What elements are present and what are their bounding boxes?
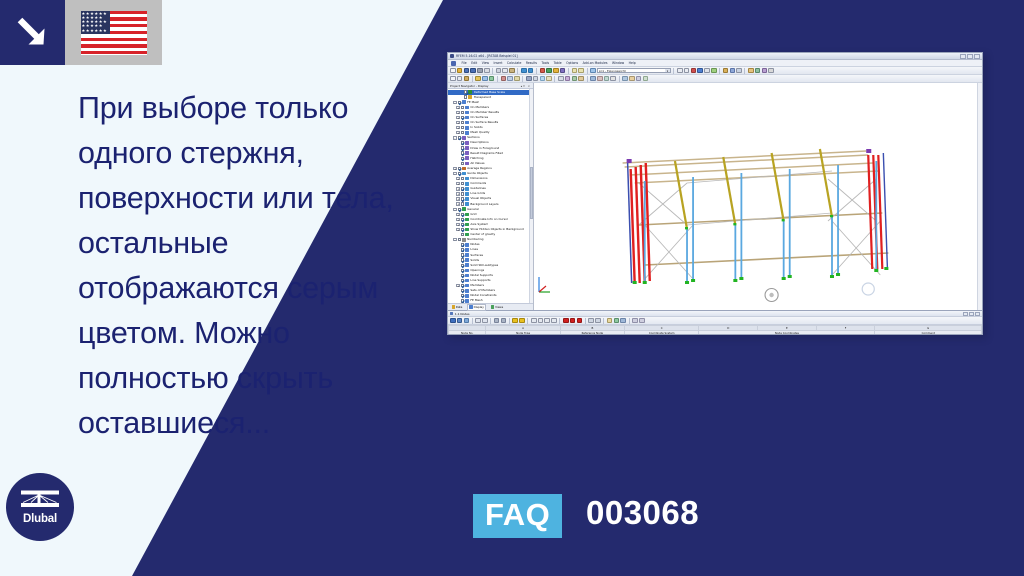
tree-node-icon xyxy=(465,177,469,181)
checkbox-icon[interactable] xyxy=(461,106,464,109)
tree-node-icon xyxy=(465,151,469,155)
paste-icon[interactable] xyxy=(494,318,500,324)
window-title: RFEM 5.16.02 x64 - [RSTAB Beispiel 01] xyxy=(456,54,518,58)
checkbox-icon[interactable] xyxy=(461,248,464,251)
slide-root: ★★★★★★★★★★★★★★★★★★★★★★★★★★★★★★★★★★★★★★★★… xyxy=(0,0,1024,576)
line-icon[interactable] xyxy=(457,76,463,82)
menu-item-view[interactable]: View xyxy=(482,61,489,65)
sort-icon[interactable] xyxy=(519,318,525,324)
navigator-title: Project Navigator - Display xyxy=(450,84,489,88)
view-xz-icon[interactable] xyxy=(755,68,761,74)
tree-node-icon xyxy=(462,207,466,211)
menu-item-addon-modules[interactable]: Add-on Modules xyxy=(583,61,608,65)
faq-number: 003068 xyxy=(586,494,699,532)
rotate-view-icon[interactable] xyxy=(610,76,616,82)
export-icon[interactable] xyxy=(464,318,470,324)
tree-node-icon xyxy=(465,121,469,125)
tree-node-icon xyxy=(462,136,466,140)
tree-node-icon xyxy=(465,299,469,303)
tree-spacer-icon xyxy=(456,289,459,292)
navigator-tab-display[interactable]: Display xyxy=(467,304,487,311)
checkbox-icon[interactable] xyxy=(461,146,464,149)
toolbar-separator xyxy=(568,68,569,74)
first-icon[interactable] xyxy=(588,318,594,324)
zoom-in-icon[interactable] xyxy=(691,68,697,74)
loadcase-combo[interactable]: LC1 - Eigengewicht ▾ xyxy=(597,68,671,74)
calc-icon[interactable] xyxy=(531,318,537,324)
expand-icon[interactable]: + xyxy=(456,284,459,287)
table-minimize-button[interactable] xyxy=(963,312,968,316)
arrow-down-right-icon xyxy=(16,16,49,49)
last-icon[interactable] xyxy=(614,318,620,324)
tree-node-icon xyxy=(465,131,469,135)
navigator-tab-views[interactable]: Views xyxy=(488,304,505,311)
data-tab-icon xyxy=(452,305,455,308)
tree-node-icon xyxy=(465,228,469,232)
flag-badge: ★★★★★★★★★★★★★★★★★★★★★★★★★★★★★★★★★★★★★★★★… xyxy=(65,0,162,65)
checkbox-icon[interactable] xyxy=(461,258,464,261)
menu-item-tools[interactable]: Tools xyxy=(542,61,550,65)
tree-node-icon xyxy=(465,294,469,298)
menubar[interactable]: File Edit View Insert Calculate Results … xyxy=(448,60,982,67)
navigator-tab-label: Data xyxy=(456,305,463,309)
select-icon[interactable] xyxy=(450,76,456,82)
menu-item-window[interactable]: Window xyxy=(612,61,624,65)
circle-icon[interactable] xyxy=(482,76,488,82)
tree-spacer-icon xyxy=(456,299,459,302)
osnap-icon[interactable] xyxy=(578,76,584,82)
mesh-icon[interactable] xyxy=(546,76,552,82)
expand-icon[interactable]: + xyxy=(453,167,456,170)
checkbox-icon[interactable] xyxy=(461,182,464,185)
tree-node-icon xyxy=(465,111,469,115)
view-iso-icon[interactable] xyxy=(736,68,742,74)
window-titlebar[interactable]: RFEM 5.16.02 x64 - [RSTAB Beispiel 01] xyxy=(448,53,982,60)
column-header[interactable]: Coordinate System xyxy=(624,331,699,336)
member-icon[interactable] xyxy=(501,76,507,82)
toolbar-separator xyxy=(587,68,588,74)
toolbar-separator xyxy=(554,76,555,82)
table-panel[interactable]: 1.1 Nodes xyxy=(448,310,982,335)
checkbox-icon[interactable] xyxy=(461,197,464,200)
viewport-marker-icon xyxy=(862,283,874,295)
tree-node-icon xyxy=(465,202,469,206)
table-header-top: Node No.Node TypeReference NodeCoordinat… xyxy=(449,331,982,336)
checkbox-icon[interactable] xyxy=(461,269,464,272)
checkbox-icon[interactable] xyxy=(461,253,464,256)
copy-icon[interactable] xyxy=(482,318,488,324)
tree-spacer-icon xyxy=(456,233,459,236)
project-navigator[interactable]: Project Navigator - Display ▴▾ × Deforme… xyxy=(448,83,534,310)
checkbox-icon[interactable] xyxy=(461,187,464,190)
checkbox-icon[interactable] xyxy=(461,223,464,226)
expand-icon[interactable]: + xyxy=(456,228,459,231)
expand-icon[interactable]: + xyxy=(456,177,459,180)
checkbox-icon[interactable] xyxy=(458,136,461,139)
navigator-item-label: FE Mesh xyxy=(470,298,482,303)
toolbar-separator xyxy=(585,318,586,324)
paste-icon[interactable] xyxy=(509,68,515,74)
checkbox-icon[interactable] xyxy=(461,289,464,292)
tree-spacer-icon xyxy=(456,151,459,154)
checkbox-icon[interactable] xyxy=(458,238,461,241)
refresh-icon[interactable] xyxy=(643,76,649,82)
menu-item-calculate[interactable]: Calculate xyxy=(507,61,521,65)
select-icon[interactable] xyxy=(620,318,626,324)
collapse-icon[interactable]: - xyxy=(453,101,456,104)
column-header[interactable]: Node Type xyxy=(486,331,561,336)
checkbox-icon[interactable] xyxy=(461,213,464,216)
expand-icon[interactable]: + xyxy=(456,182,459,185)
tree-spacer-icon xyxy=(456,264,459,267)
collapse-icon[interactable]: - xyxy=(453,238,456,241)
table-icon xyxy=(450,312,453,315)
dimension-icon[interactable] xyxy=(558,76,564,82)
checkbox-icon[interactable] xyxy=(464,95,467,98)
navigator-tab-data[interactable]: Data xyxy=(449,304,465,311)
dlubal-truss-icon xyxy=(20,490,60,512)
load-case-icon[interactable] xyxy=(572,68,578,74)
tree-node-icon xyxy=(465,106,469,110)
delete-row-icon[interactable] xyxy=(563,318,569,324)
checkbox-icon[interactable] xyxy=(461,233,464,236)
checkbox-icon[interactable] xyxy=(461,294,464,297)
print-preview-icon[interactable] xyxy=(484,68,490,74)
tree-node-icon xyxy=(465,182,469,186)
views-tab-icon xyxy=(491,305,494,308)
view-xy-icon[interactable] xyxy=(748,68,754,74)
cut-icon[interactable] xyxy=(496,68,502,74)
checkbox-icon[interactable] xyxy=(461,228,464,231)
menu-item-results[interactable]: Results xyxy=(526,61,537,65)
viewport-scrollbar[interactable] xyxy=(977,83,982,310)
checkbox-icon[interactable] xyxy=(461,157,464,160)
solid-icon2[interactable] xyxy=(514,76,520,82)
checkbox-icon[interactable] xyxy=(461,116,464,119)
copy-icon[interactable] xyxy=(502,68,508,74)
checkbox-icon[interactable] xyxy=(458,101,461,104)
save-icon[interactable] xyxy=(464,68,470,74)
expand-icon[interactable]: + xyxy=(456,111,459,114)
window-menu-icon[interactable] xyxy=(451,61,456,66)
secondary-toolbar[interactable] xyxy=(448,75,982,83)
render-icon[interactable] xyxy=(540,68,546,74)
measure-icon[interactable] xyxy=(622,76,628,82)
checkbox-icon[interactable] xyxy=(461,192,464,195)
checkbox-icon[interactable] xyxy=(461,243,464,246)
display-tab-icon xyxy=(469,305,472,308)
main-toolbar[interactable]: LC1 - Eigengewicht ▾ xyxy=(448,67,982,75)
layer-icon[interactable] xyxy=(590,76,596,82)
toolbar-separator xyxy=(587,76,588,82)
arc-icon[interactable] xyxy=(475,76,481,82)
tree-spacer-icon xyxy=(456,248,459,251)
snap-icon[interactable] xyxy=(565,76,571,82)
toolbar-separator xyxy=(603,318,604,324)
checkbox-icon[interactable] xyxy=(461,202,464,205)
checkbox-icon[interactable] xyxy=(461,218,464,221)
new-row-icon[interactable] xyxy=(450,318,456,324)
arrow-badge xyxy=(0,0,65,65)
print-table-icon[interactable] xyxy=(457,318,463,324)
navigator-tab-label: Display xyxy=(474,305,484,309)
calculate-icon[interactable] xyxy=(578,68,584,74)
navigator-tree[interactable]: Deformed Base ScaleTransparent-FE Mesh+O… xyxy=(448,89,533,303)
menu-item-options[interactable]: Options xyxy=(566,61,578,65)
loadcase-label-icon[interactable] xyxy=(590,68,596,74)
table-window-controls[interactable] xyxy=(963,312,980,316)
model-viewport[interactable] xyxy=(534,83,982,310)
checkbox-icon[interactable] xyxy=(464,90,467,93)
navigator-tab-label: Views xyxy=(495,305,503,309)
tree-node-icon xyxy=(465,187,469,191)
tree-node-icon xyxy=(465,279,469,283)
zoom-window-icon[interactable] xyxy=(704,68,710,74)
table-head: ABCDEFGNode No.Node TypeReference NodeCo… xyxy=(449,326,982,336)
tree-spacer-icon xyxy=(456,279,459,282)
toolbar-separator xyxy=(673,68,674,74)
tree-node-icon xyxy=(465,269,469,273)
checkbox-icon[interactable] xyxy=(461,274,464,277)
collapse-icon[interactable]: - xyxy=(453,208,456,211)
checkbox-icon[interactable] xyxy=(461,141,464,144)
colors-icon[interactable] xyxy=(544,318,550,324)
workarea: Project Navigator - Display ▴▾ × Deforme… xyxy=(448,83,982,310)
new-file-icon[interactable] xyxy=(450,68,456,74)
toolbar-separator xyxy=(629,318,630,324)
tree-node-icon xyxy=(465,243,469,247)
open-folder-icon[interactable] xyxy=(457,68,463,74)
collapse-icon[interactable]: - xyxy=(453,172,456,175)
rfem-application-window[interactable]: RFEM 5.16.02 x64 - [RSTAB Beispiel 01] F… xyxy=(447,52,983,335)
expand-icon[interactable]: + xyxy=(456,106,459,109)
window-controls[interactable] xyxy=(960,54,980,59)
load-icon[interactable] xyxy=(540,76,546,82)
support-icon[interactable] xyxy=(526,76,532,82)
tree-node-icon xyxy=(465,218,469,222)
grid-icon[interactable] xyxy=(572,76,578,82)
checkbox-icon[interactable] xyxy=(461,126,464,129)
tree-spacer-icon xyxy=(456,146,459,149)
expand-icon[interactable]: + xyxy=(456,223,459,226)
fit-all-icon[interactable] xyxy=(723,68,729,74)
tree-spacer-icon xyxy=(456,274,459,277)
section-cut-icon[interactable] xyxy=(604,76,610,82)
find-icon[interactable] xyxy=(501,318,507,324)
save-all-icon[interactable] xyxy=(470,68,476,74)
checkbox-icon[interactable] xyxy=(458,208,461,211)
checkbox-icon[interactable] xyxy=(461,121,464,124)
expand-icon[interactable]: + xyxy=(456,202,459,205)
visibility-icon[interactable] xyxy=(597,76,603,82)
colors-icon[interactable] xyxy=(560,68,566,74)
dlubal-wordmark: Dlubal xyxy=(23,513,57,525)
checkbox-icon[interactable] xyxy=(461,131,464,134)
help-icon[interactable] xyxy=(639,318,645,324)
zoom-out-icon[interactable] xyxy=(697,68,703,74)
navigator-item[interactable]: FE Mesh xyxy=(448,298,533,303)
expand-icon[interactable]: + xyxy=(456,213,459,216)
tree-node-icon xyxy=(465,116,469,120)
checkbox-icon[interactable] xyxy=(461,284,464,287)
tree-spacer-icon xyxy=(456,269,459,272)
toolbar-separator xyxy=(719,68,720,74)
axis-triad-icon xyxy=(537,274,553,294)
settings-icon[interactable] xyxy=(538,318,544,324)
loadcase-combo-value: LC1 - Eigengewicht xyxy=(599,69,626,73)
tree-spacer-icon xyxy=(456,294,459,297)
tree-node-icon xyxy=(465,284,469,288)
tree-node-icon xyxy=(462,167,466,171)
checkbox-icon[interactable] xyxy=(461,177,464,180)
checkbox-icon[interactable] xyxy=(458,172,461,175)
checkbox-icon[interactable] xyxy=(461,151,464,154)
tree-node-icon xyxy=(465,248,469,252)
page-title: При выборе только одного стержня, поверх… xyxy=(78,86,430,446)
tree-spacer-icon xyxy=(460,95,463,98)
column-header[interactable]: Node No. xyxy=(449,331,486,336)
tree-node-icon xyxy=(465,197,469,201)
clear-row-icon[interactable] xyxy=(577,318,583,324)
tree-node-icon xyxy=(465,141,469,145)
tree-node-icon xyxy=(468,95,472,99)
menu-item-table[interactable]: Table xyxy=(554,61,562,65)
collapse-icon[interactable]: - xyxy=(453,136,456,139)
table-close-button[interactable] xyxy=(975,312,980,316)
next-icon[interactable] xyxy=(607,318,613,324)
tree-node-icon xyxy=(462,238,466,242)
steel-hall-frame-model[interactable] xyxy=(534,83,982,310)
menu-item-insert[interactable]: Insert xyxy=(494,61,503,65)
expand-icon[interactable]: + xyxy=(456,192,459,195)
checkbox-icon[interactable] xyxy=(461,111,464,114)
checkbox-icon[interactable] xyxy=(461,264,464,267)
tree-node-icon xyxy=(465,289,469,293)
scrollbar-thumb[interactable] xyxy=(530,167,533,219)
table-maximize-button[interactable] xyxy=(969,312,974,316)
dlubal-logo: Dlubal xyxy=(6,473,74,541)
checkbox-icon[interactable] xyxy=(461,162,464,165)
tree-node-icon xyxy=(465,162,469,166)
column-header[interactable]: Node Coordinates xyxy=(699,331,875,336)
expand-icon[interactable]: + xyxy=(456,197,459,200)
undo-icon[interactable] xyxy=(521,68,527,74)
toolbar-separator xyxy=(472,76,473,82)
print-icon[interactable] xyxy=(477,68,483,74)
menu-item-edit[interactable]: Edit xyxy=(471,61,477,65)
checkbox-icon[interactable] xyxy=(458,167,461,170)
toolbar-separator xyxy=(744,68,745,74)
tree-node-icon xyxy=(465,192,469,196)
print-graphic-icon[interactable] xyxy=(730,68,736,74)
table-toolbar[interactable] xyxy=(448,317,982,325)
tree-node-icon xyxy=(462,100,466,104)
tree-node-icon xyxy=(465,253,469,257)
column-header[interactable]: Reference Node xyxy=(560,331,624,336)
navigator-collapse-icon[interactable]: ▴▾ × xyxy=(521,84,531,88)
toolbar-separator xyxy=(472,318,473,324)
expand-icon[interactable]: + xyxy=(456,121,459,124)
tree-node-icon xyxy=(465,156,469,160)
tree-spacer-icon xyxy=(456,162,459,165)
tree-spacer-icon xyxy=(456,243,459,246)
polyline-icon[interactable] xyxy=(464,76,470,82)
chevron-down-icon[interactable]: ▾ xyxy=(665,69,670,73)
pan-icon[interactable] xyxy=(711,68,717,74)
tree-node-icon xyxy=(465,258,469,262)
close-button[interactable] xyxy=(974,54,980,59)
info-tool-icon[interactable] xyxy=(629,76,635,82)
expand-icon[interactable]: + xyxy=(456,126,459,129)
expand-icon[interactable]: + xyxy=(456,131,459,134)
tree-spacer-icon xyxy=(456,258,459,261)
table-title: 1.1 Nodes xyxy=(455,312,470,316)
expand-icon[interactable]: + xyxy=(456,116,459,119)
toolbar-separator xyxy=(490,318,491,324)
surface-icon[interactable] xyxy=(507,76,513,82)
view-icon[interactable] xyxy=(551,318,557,324)
tree-node-icon xyxy=(465,146,469,150)
info-icon[interactable] xyxy=(632,318,638,324)
next-loadcase-icon[interactable] xyxy=(684,68,690,74)
tree-spacer-icon xyxy=(460,90,463,93)
prev-loadcase-icon[interactable] xyxy=(677,68,683,74)
rfem-app-icon xyxy=(450,54,454,58)
navigator-tabs[interactable]: Data Display Views xyxy=(448,303,533,310)
menu-item-file[interactable]: File xyxy=(462,61,467,65)
cut-icon[interactable] xyxy=(475,318,481,324)
maximize-button[interactable] xyxy=(967,54,973,59)
redo-icon[interactable] xyxy=(528,68,534,74)
node-icon[interactable] xyxy=(489,76,495,82)
view-free-icon[interactable] xyxy=(768,68,774,74)
minimize-button[interactable] xyxy=(960,54,966,59)
tree-node-icon xyxy=(465,274,469,278)
checkbox-icon[interactable] xyxy=(461,299,464,302)
insert-row-icon[interactable] xyxy=(570,318,576,324)
tree-spacer-icon xyxy=(456,253,459,256)
rotation-ball-icon xyxy=(765,289,778,302)
column-header[interactable]: Comment xyxy=(875,331,982,336)
filter-icon[interactable] xyxy=(512,318,518,324)
tree-node-icon xyxy=(465,263,469,267)
toolbar-separator xyxy=(509,318,510,324)
checkbox-icon[interactable] xyxy=(461,279,464,282)
prev-icon[interactable] xyxy=(595,318,601,324)
tree-spacer-icon xyxy=(456,157,459,160)
toolbar-separator xyxy=(517,68,518,74)
solid-icon[interactable] xyxy=(553,68,559,74)
hinge-icon[interactable] xyxy=(533,76,539,82)
settings-tool-icon[interactable] xyxy=(636,76,642,82)
view-yz-icon[interactable] xyxy=(762,68,768,74)
tree-node-icon xyxy=(462,172,466,176)
wireframe-icon[interactable] xyxy=(546,68,552,74)
toolbar-separator xyxy=(497,76,498,82)
toolbar-separator xyxy=(619,76,620,82)
tree-node-icon xyxy=(465,213,469,217)
expand-icon[interactable]: + xyxy=(456,218,459,221)
faq-badge: FAQ xyxy=(473,494,562,538)
tree-node-icon xyxy=(465,126,469,130)
expand-icon[interactable]: + xyxy=(456,187,459,190)
navigator-scrollbar[interactable] xyxy=(529,89,533,303)
nodes-table[interactable]: ABCDEFGNode No.Node TypeReference NodeCo… xyxy=(448,325,982,335)
menu-item-help[interactable]: Help xyxy=(629,61,636,65)
nodes-grid[interactable]: ABCDEFGNode No.Node TypeReference NodeCo… xyxy=(448,325,982,335)
tree-node-icon xyxy=(465,223,469,227)
toolbar-separator xyxy=(536,68,537,74)
